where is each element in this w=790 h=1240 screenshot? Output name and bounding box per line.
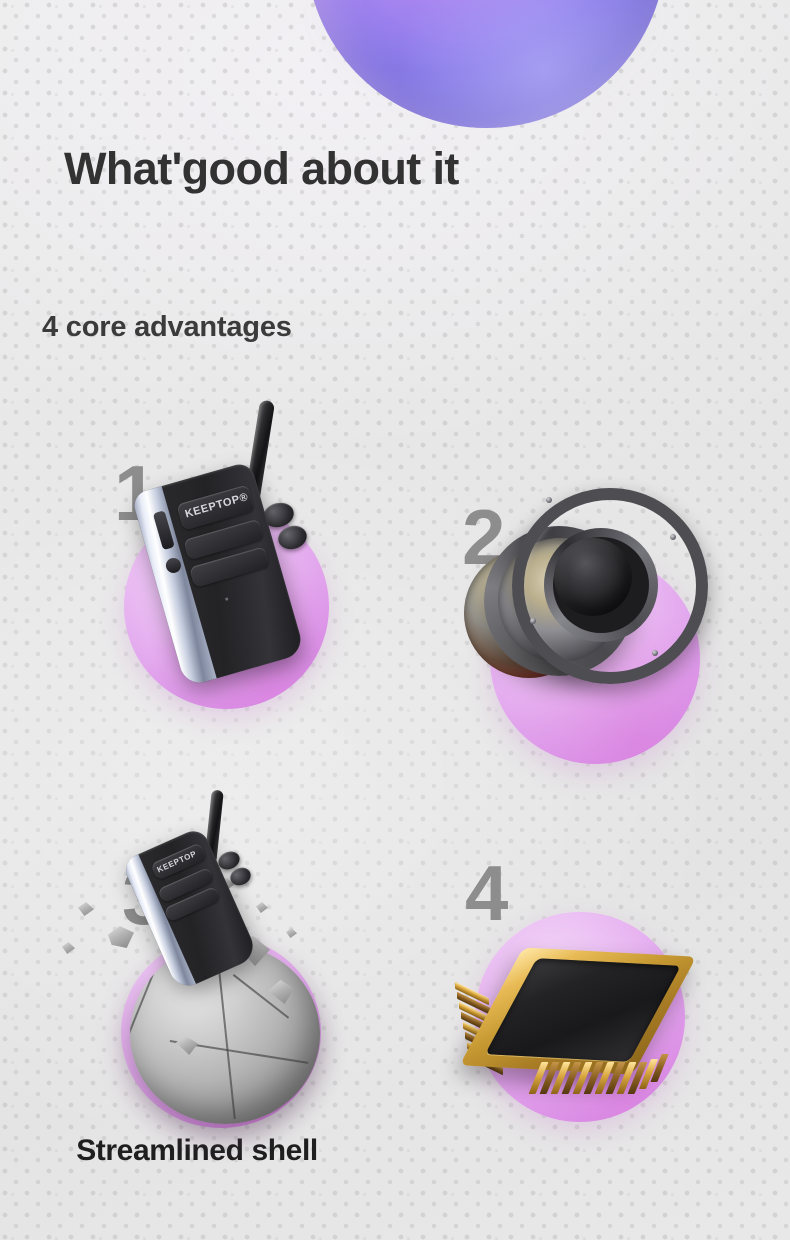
feature-3-stage: 3	[0, 784, 395, 1114]
mounting-screw-3	[652, 650, 658, 656]
status-led	[225, 597, 229, 601]
page-subtitle: 4 core advantages	[42, 311, 292, 344]
feature-card-3: 3	[0, 784, 395, 1114]
feature-card-1: 1 KEEPTOP®	[0, 392, 395, 722]
mounting-screw-4	[530, 618, 536, 624]
feature-1-stage: 1 KEEPTOP®	[0, 392, 395, 722]
walkie-talkie-3: KEEPTOP	[146, 784, 316, 1004]
sphere-body	[306, 0, 666, 128]
debris-5	[78, 902, 94, 916]
feature-4-stage: 4	[395, 832, 790, 1162]
feature-1-caption: Streamlined shell	[0, 1134, 394, 1169]
feature-2-stage: 2	[395, 440, 790, 770]
walkie-talkie-3-body: KEEPTOP	[121, 826, 259, 992]
mounting-screw-2	[670, 534, 676, 540]
page-title: What'good about it	[64, 139, 494, 198]
speaker-cone	[554, 538, 632, 616]
walkie-talkie-1: KEEPTOP®	[150, 402, 340, 702]
glossy-sphere-graphic	[306, 0, 666, 128]
feature-card-4: 4	[395, 832, 790, 1162]
channel-knob	[275, 522, 309, 552]
product-feature-page: What'good about it 4 core advantages 1	[0, 0, 790, 1240]
sphere-rim-light	[306, 0, 666, 128]
feature-card-2: 2 Antimagnetic speaker	[395, 440, 790, 770]
microchip	[447, 904, 717, 1124]
debris-8	[62, 942, 75, 954]
speaker-driver	[450, 472, 710, 722]
mounting-screw-1	[546, 497, 552, 503]
walkie-talkie-1-body: KEEPTOP®	[131, 461, 305, 687]
